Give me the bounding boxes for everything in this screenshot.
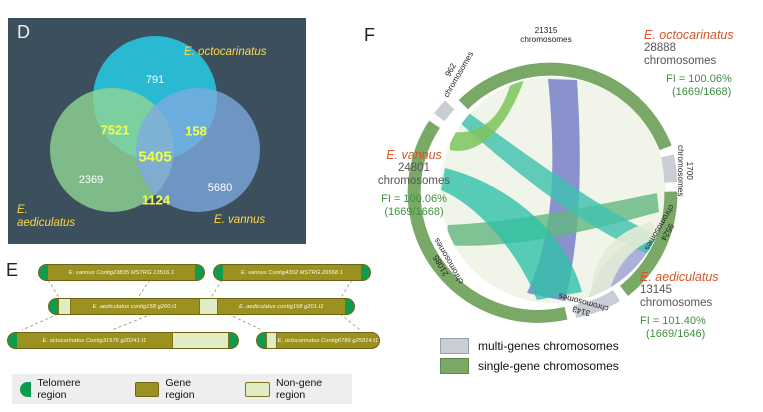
venn-diagram: 791 2369 5680 7521 158 1124 5405 E. octo… bbox=[8, 18, 306, 244]
legend-label: Non-gene region bbox=[276, 377, 344, 401]
telomere-icon bbox=[257, 333, 266, 348]
arc-number: 21315 bbox=[520, 26, 571, 35]
species-fi-ratio: (1669/1646) bbox=[646, 328, 719, 340]
venn-value-van-only: 5680 bbox=[208, 182, 232, 194]
legend-item-telomere: Telomere region bbox=[20, 377, 103, 401]
gene-region: E. aediculatus contig158 g200.t1 bbox=[71, 299, 199, 314]
venn-label-aediculatus: E. aediculatus bbox=[17, 204, 87, 230]
chromosome-label: E. octocarinatus Contig31576 g20241.t1 bbox=[17, 333, 172, 348]
chromosome-bar-vannus-1[interactable]: E. vannus Contig23835 MSTRG.13516.1 bbox=[38, 264, 205, 281]
telomere-icon bbox=[8, 333, 17, 348]
gene-region: E. aediculatus contig158 g201.t1 bbox=[218, 299, 346, 314]
panel-e-legend: Telomere region Gene region Non-gene reg… bbox=[12, 374, 352, 404]
legend-label: single-gene chromosomes bbox=[478, 359, 619, 373]
legend-item-single-gene: single-gene chromosomes bbox=[440, 358, 619, 374]
telomere-icon bbox=[195, 265, 204, 280]
chromosome-bar-octocarinatus-1[interactable]: E. octocarinatus Contig31576 g20241.t1 bbox=[7, 332, 239, 349]
species-name: E. octocarinatus bbox=[644, 28, 734, 42]
species-block-aediculatus: E. aediculatus 13145 chromosomes FI = 10… bbox=[640, 270, 719, 340]
species-fi-ratio: (1669/1668) bbox=[672, 86, 734, 98]
species-block-vannus: E. vannus 24801 chromosomes FI = 100.06%… bbox=[354, 148, 474, 218]
telomere-swatch-icon bbox=[20, 382, 31, 397]
gene-region: E. vannus Contig23835 MSTRG.13516.1 bbox=[48, 265, 195, 280]
telomere-icon bbox=[229, 333, 238, 348]
single-gene-swatch-icon bbox=[440, 358, 469, 374]
species-unit: chromosomes bbox=[640, 297, 719, 310]
venn-value-aed-van: 1124 bbox=[142, 193, 170, 208]
chromosome-label: E. vannus Contig23835 MSTRG.13516.1 bbox=[48, 265, 195, 280]
arc-number: 1700 bbox=[685, 145, 694, 196]
species-fi: FI = 100.06% bbox=[354, 193, 474, 205]
species-unit: chromosomes bbox=[644, 55, 734, 68]
multi-genes-swatch-icon bbox=[440, 338, 469, 354]
chromosome-label: E. aediculatus contig158 g200.t1 bbox=[71, 299, 199, 314]
arc-label-oct-single: 21315 chromosomes bbox=[520, 26, 571, 44]
venn-value-oct-only: 791 bbox=[146, 74, 164, 86]
non-gene-region bbox=[172, 333, 229, 348]
panel-f-legend: multi-genes chromosomes single-gene chro… bbox=[440, 338, 619, 378]
panel-d-venn: D 791 2369 5680 7521 158 1124 5405 E. oc… bbox=[8, 18, 306, 244]
telomere-icon bbox=[214, 265, 223, 280]
legend-item-nongene: Non-gene region bbox=[245, 377, 344, 401]
species-name: E. vannus bbox=[354, 148, 474, 162]
venn-value-all-three: 5405 bbox=[138, 149, 171, 166]
venn-value-aed-only: 2369 bbox=[79, 174, 103, 186]
arc-oct-multi-genes bbox=[667, 156, 670, 183]
species-count: 13145 bbox=[640, 284, 719, 297]
venn-value-oct-van: 158 bbox=[185, 124, 207, 139]
arc-label-oct-multi: 1700 chromosomes bbox=[676, 145, 694, 196]
telomere-icon bbox=[39, 265, 48, 280]
chromosome-bar-vannus-2[interactable]: E. vannus Contig4302 MSTRG.26568.1 bbox=[213, 264, 371, 281]
legend-item-gene: Gene region bbox=[135, 377, 216, 401]
arc-van-multi-genes bbox=[439, 105, 450, 117]
non-gene-region bbox=[58, 299, 71, 314]
gene-region: E. octocarinatus Contig31576 g20241.t1 bbox=[17, 333, 172, 348]
gene-region: E. vannus Contig4302 MSTRG.26568.1 bbox=[223, 265, 361, 280]
venn-value-oct-aed: 7521 bbox=[101, 123, 130, 138]
species-count: 28888 bbox=[644, 42, 734, 55]
panel-e-synteny: E E. vannus Contig23835 MSTRG.13516.1 E.… bbox=[0, 252, 372, 412]
venn-label-vannus: E. vannus bbox=[214, 214, 265, 227]
non-gene-region bbox=[266, 333, 277, 348]
nongene-swatch-icon bbox=[245, 382, 270, 397]
legend-label: Telomere region bbox=[37, 377, 103, 401]
species-count: 24801 bbox=[354, 162, 474, 175]
legend-label: multi-genes chromosomes bbox=[478, 339, 619, 353]
gene-swatch-icon bbox=[135, 382, 160, 397]
legend-label: Gene region bbox=[165, 377, 215, 401]
chromosome-label: E. vannus Contig4302 MSTRG.26568.1 bbox=[223, 265, 361, 280]
species-fi-ratio: (1669/1668) bbox=[354, 206, 474, 218]
species-unit: chromosomes bbox=[354, 175, 474, 188]
non-gene-region bbox=[199, 299, 218, 314]
species-fi: FI = 100.06% bbox=[666, 73, 734, 85]
venn-label-octocarinatus: E. octocarinatus bbox=[184, 46, 266, 59]
arc-unit: chromosomes bbox=[520, 35, 571, 44]
legend-item-multi-genes: multi-genes chromosomes bbox=[440, 338, 619, 354]
species-block-octocarinatus: E. octocarinatus 28888 chromosomes FI = … bbox=[644, 28, 734, 98]
telomere-icon bbox=[49, 299, 58, 314]
chromosome-bar-aediculatus[interactable]: E. aediculatus contig158 g200.t1 E. aedi… bbox=[48, 298, 355, 315]
species-name: E. aediculatus bbox=[640, 270, 719, 284]
chromosome-label: E. aediculatus contig158 g201.t1 bbox=[218, 299, 346, 314]
panel-f-chord: F bbox=[352, 0, 763, 412]
species-fi: FI = 101.40% bbox=[640, 315, 719, 327]
arc-unit: chromosomes bbox=[676, 145, 685, 196]
